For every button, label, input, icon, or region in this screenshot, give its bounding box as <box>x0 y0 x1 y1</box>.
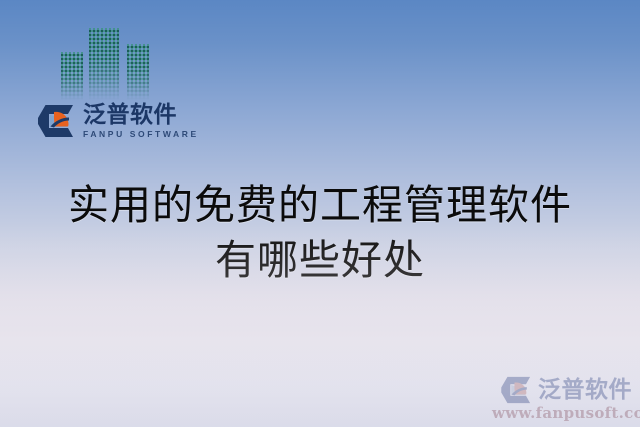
promo-banner: 泛普软件 FANPU SOFTWARE 实用的免费的工程管理软件 有哪些好处 泛… <box>0 0 640 427</box>
dot-bar-left-tower <box>61 52 83 100</box>
headline-line-1: 实用的免费的工程管理软件 <box>0 178 640 233</box>
fanpu-hexagon-logo-watermark-icon <box>500 376 533 404</box>
watermark: 泛普软件 www.fanpusoft.com <box>492 376 632 421</box>
dot-matrix-cityscape-graphic <box>61 24 153 100</box>
brand-logo-wordmark: 泛普软件 FANPU SOFTWARE <box>83 104 199 139</box>
brand-name-cn: 泛普软件 <box>83 104 199 127</box>
headline: 实用的免费的工程管理软件 有哪些好处 <box>0 178 640 288</box>
fanpu-hexagon-logo-icon <box>37 104 76 138</box>
brand-name-en: FANPU SOFTWARE <box>83 130 199 139</box>
headline-line-2: 有哪些好处 <box>0 233 640 288</box>
brand-logo: 泛普软件 FANPU SOFTWARE <box>37 104 199 139</box>
watermark-logo-row: 泛普软件 <box>492 376 632 404</box>
watermark-brand-name: 泛普软件 <box>538 379 632 402</box>
dot-bar-right-tower <box>127 44 149 100</box>
watermark-url: www.fanpusoft.com <box>492 406 632 421</box>
dot-bar-center-tower <box>89 28 119 100</box>
